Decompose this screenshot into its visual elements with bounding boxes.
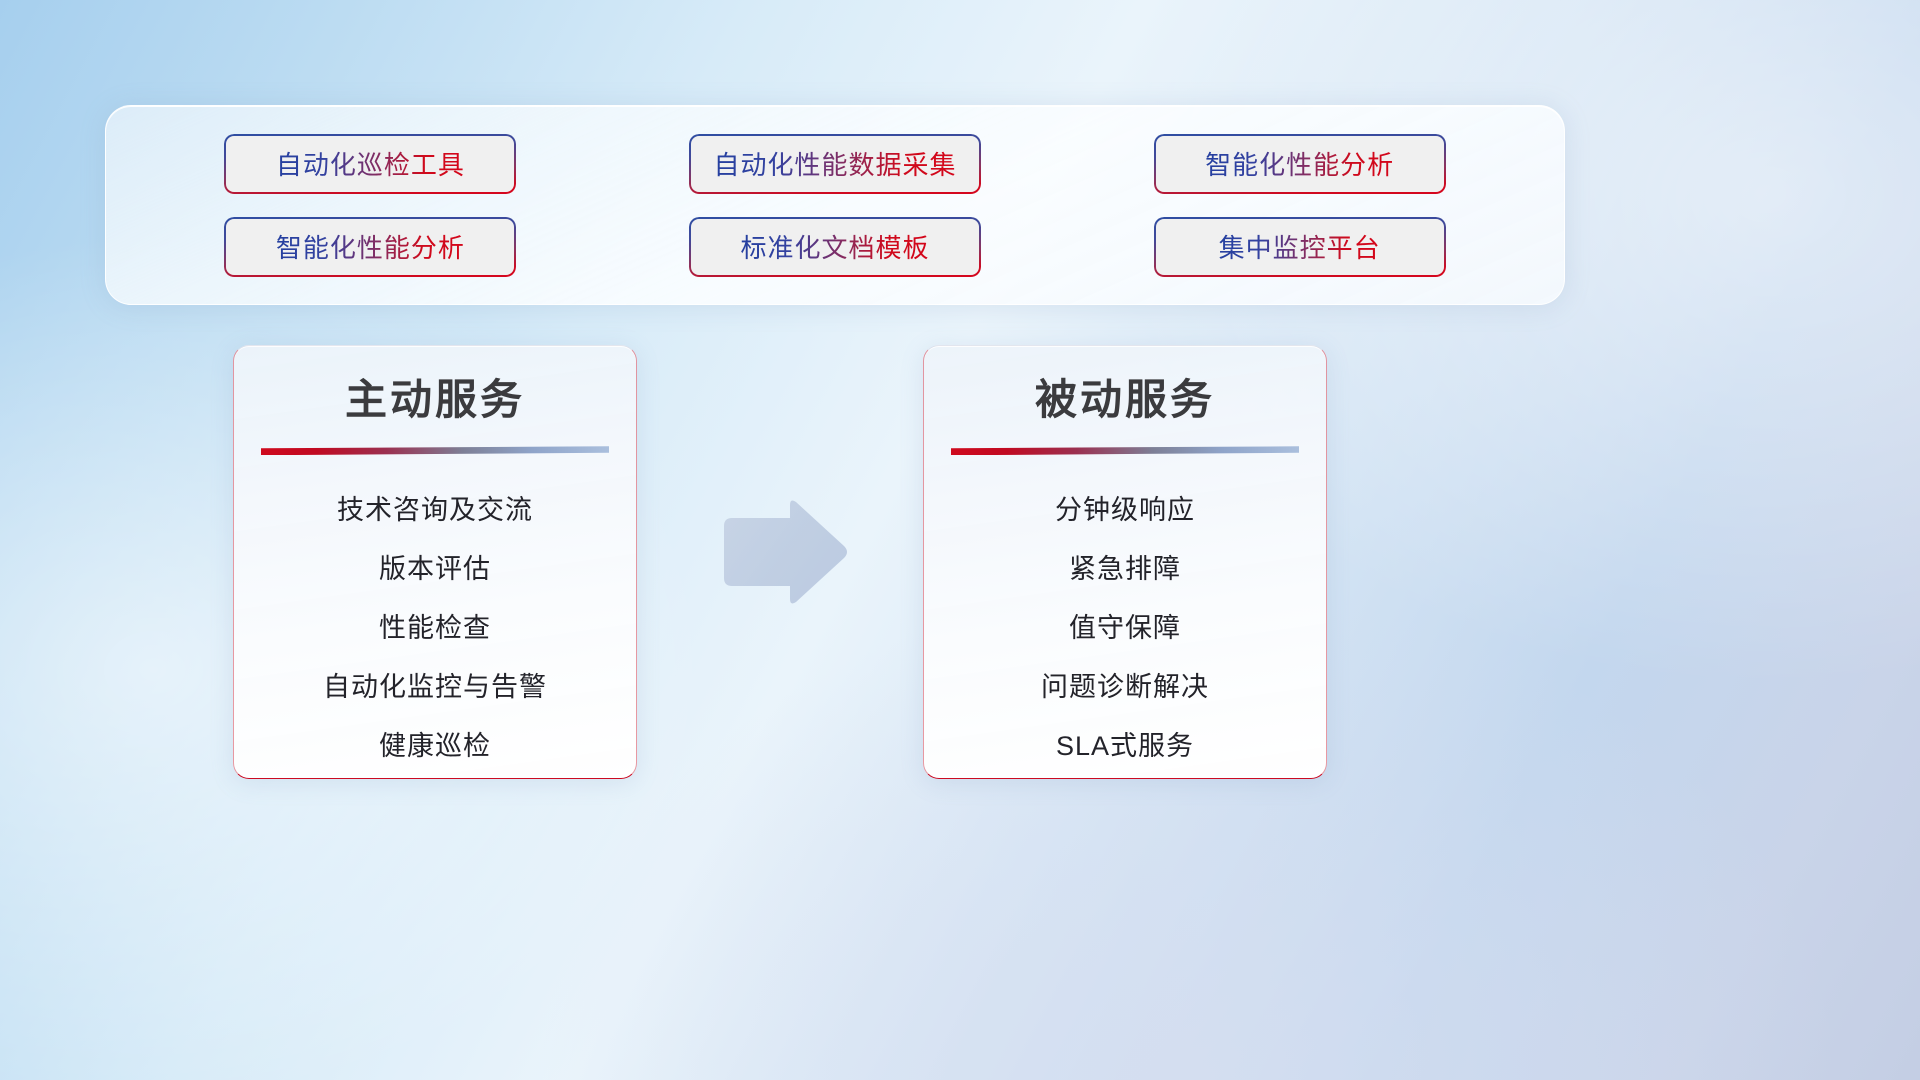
title-divider xyxy=(261,446,609,455)
service-item: 紧急排障 xyxy=(1069,540,1181,599)
capability-tag[interactable]: 标准化文档模板 xyxy=(689,217,981,277)
title-divider xyxy=(951,446,1299,455)
capability-panel: 自动化巡检工具 自动化性能数据采集 智能化性能分析 智能化性能分析 标准化文档模… xyxy=(105,105,1565,305)
capability-tag-label: 自动化性能数据采集 xyxy=(713,145,956,182)
service-item: 性能检查 xyxy=(379,599,491,658)
arrow-right-icon xyxy=(718,498,848,606)
service-item: 自动化监控与告警 xyxy=(323,658,547,717)
service-item: SLA式服务 xyxy=(1056,717,1194,776)
capability-tag-label: 智能化性能分析 xyxy=(1205,145,1394,182)
capability-tag[interactable]: 智能化性能分析 xyxy=(224,217,516,277)
slide-canvas: 自动化巡检工具 自动化性能数据采集 智能化性能分析 智能化性能分析 标准化文档模… xyxy=(0,0,1920,1080)
capability-tag-label: 智能化性能分析 xyxy=(276,228,465,265)
service-item: 值守保障 xyxy=(1069,599,1181,658)
service-item-list: 分钟级响应 紧急排障 值守保障 问题诊断解决 SLA式服务 xyxy=(924,481,1326,776)
service-item: 问题诊断解决 xyxy=(1041,658,1209,717)
service-item: 分钟级响应 xyxy=(1055,481,1195,540)
service-item-list: 技术咨询及交流 版本评估 性能检查 自动化监控与告警 健康巡检 xyxy=(234,481,636,776)
capability-tag[interactable]: 自动化巡检工具 xyxy=(224,134,516,194)
capability-tag[interactable]: 智能化性能分析 xyxy=(1154,134,1446,194)
service-item: 版本评估 xyxy=(379,540,491,599)
service-item: 健康巡检 xyxy=(379,717,491,776)
service-card-active: 主动服务 技术咨询及交流 版本评估 性能检查 自动化监控与告警 健康巡检 xyxy=(233,345,637,779)
capability-tag-label: 集中监控平台 xyxy=(1219,228,1381,265)
capability-tag[interactable]: 自动化性能数据采集 xyxy=(689,134,981,194)
capability-tag-label: 标准化文档模板 xyxy=(740,228,929,265)
service-item: 技术咨询及交流 xyxy=(337,481,533,540)
capability-tag-label: 自动化巡检工具 xyxy=(276,145,465,182)
service-card-passive: 被动服务 分钟级响应 紧急排障 值守保障 问题诊断解决 SLA式服务 xyxy=(923,345,1327,779)
capability-tag[interactable]: 集中监控平台 xyxy=(1154,217,1446,277)
service-card-title: 被动服务 xyxy=(1035,376,1215,424)
service-card-title: 主动服务 xyxy=(345,376,525,424)
